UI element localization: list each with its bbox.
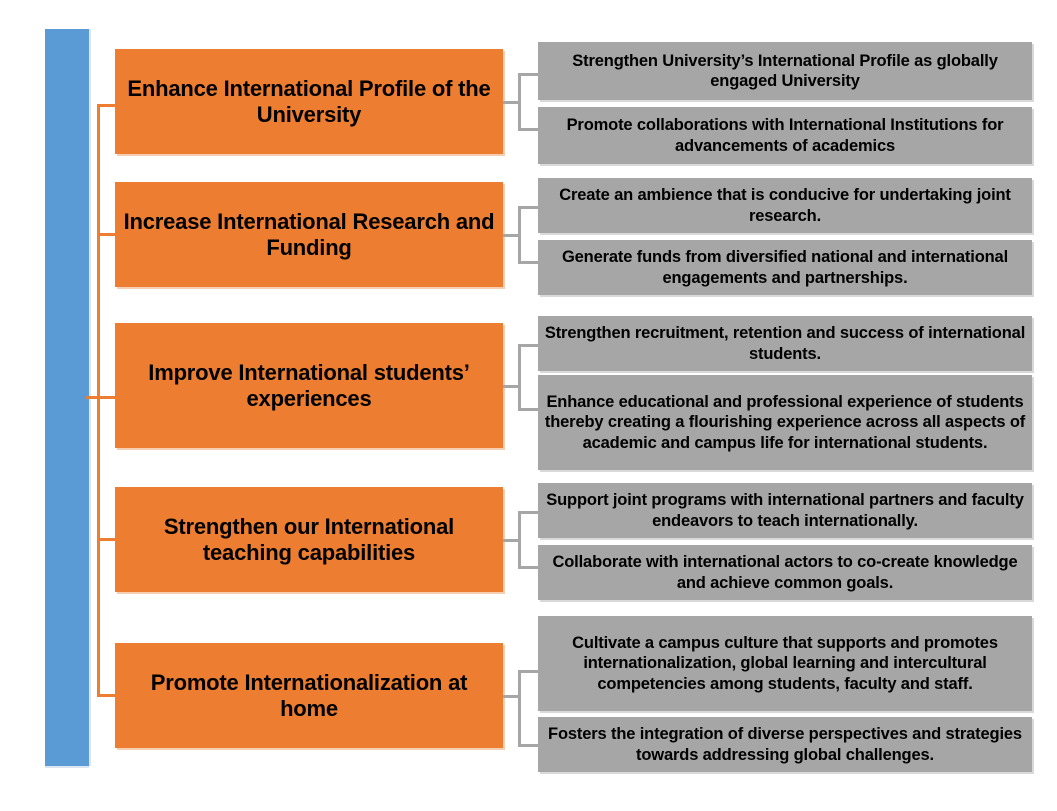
objective-label-2-2: Generate funds from diversified national… <box>542 247 1028 287</box>
objective-branch-connector-2-1 <box>518 206 540 209</box>
objective-label-1-2: Promote collaborations with Internationa… <box>542 115 1028 155</box>
objective-label-4-1: Support joint programs with internationa… <box>542 490 1028 530</box>
objective-branch-connector-3-2 <box>518 408 540 411</box>
objective-trunk-connector-4 <box>518 511 521 569</box>
objective-box-5-1[interactable]: Cultivate a campus culture that supports… <box>538 616 1032 711</box>
objective-branch-connector-5-1 <box>518 670 540 673</box>
objective-label-4-2: Collaborate with international actors to… <box>542 552 1028 592</box>
goal-label-3: Improve International students’ experien… <box>121 360 497 412</box>
objective-box-5-2[interactable]: Fosters the integration of diverse persp… <box>538 717 1032 772</box>
root-node-bar <box>45 29 89 766</box>
goal-label-4: Strengthen our International teaching ca… <box>121 514 497 566</box>
objective-branch-connector-4-2 <box>518 566 540 569</box>
goal-box-2[interactable]: Increase International Research and Fund… <box>115 182 503 287</box>
goal-box-3[interactable]: Improve International students’ experien… <box>115 323 503 448</box>
objective-trunk-connector-2 <box>518 206 521 264</box>
objective-branch-connector-4-1 <box>518 511 540 514</box>
objective-label-3-2: Enhance educational and professional exp… <box>542 392 1028 452</box>
objective-label-5-1: Cultivate a campus culture that supports… <box>542 633 1028 693</box>
objective-label-5-2: Fosters the integration of diverse persp… <box>542 724 1028 764</box>
goal-label-5: Promote Internationalization at home <box>121 670 497 722</box>
objective-box-2-1[interactable]: Create an ambience that is conducive for… <box>538 178 1032 233</box>
goal-box-4[interactable]: Strengthen our International teaching ca… <box>115 487 503 592</box>
objective-branch-connector-3-1 <box>518 344 540 347</box>
objective-box-1-1[interactable]: Strengthen University’s International Pr… <box>538 42 1032 100</box>
objective-trunk-connector-1 <box>518 73 521 131</box>
objective-trunk-connector-3 <box>518 344 521 411</box>
objective-branch-connector-5-2 <box>518 744 540 747</box>
goal-branch-connector-3 <box>97 396 115 399</box>
goal-box-5[interactable]: Promote Internationalization at home <box>115 643 503 748</box>
objective-box-3-1[interactable]: Strengthen recruitment, retention and su… <box>538 316 1032 371</box>
goal-branch-connector-1 <box>97 104 115 107</box>
objective-trunk-connector-5 <box>518 670 521 747</box>
objective-box-4-1[interactable]: Support joint programs with internationa… <box>538 483 1032 538</box>
diagram-canvas: Internationalization Goals Enhance Inter… <box>0 0 1057 811</box>
objective-branch-connector-1-2 <box>518 128 540 131</box>
objective-box-3-2[interactable]: Enhance educational and professional exp… <box>538 375 1032 470</box>
goal-branch-connector-2 <box>97 233 115 236</box>
goal-label-1: Enhance International Profile of the Uni… <box>121 76 497 128</box>
goal-label-2: Increase International Research and Fund… <box>121 209 497 261</box>
objective-branch-connector-2-2 <box>518 261 540 264</box>
objective-branch-connector-1-1 <box>518 73 540 76</box>
objective-box-4-2[interactable]: Collaborate with international actors to… <box>538 545 1032 600</box>
goal-branch-connector-5 <box>97 694 115 697</box>
objective-label-3-1: Strengthen recruitment, retention and su… <box>542 323 1028 363</box>
objective-label-2-1: Create an ambience that is conducive for… <box>542 185 1028 225</box>
goal-trunk-connector <box>97 104 100 697</box>
objective-label-1-1: Strengthen University’s International Pr… <box>542 51 1028 91</box>
goal-box-1[interactable]: Enhance International Profile of the Uni… <box>115 49 503 154</box>
objective-box-2-2[interactable]: Generate funds from diversified national… <box>538 240 1032 295</box>
objective-box-1-2[interactable]: Promote collaborations with Internationa… <box>538 107 1032 164</box>
goal-branch-connector-4 <box>97 538 115 541</box>
